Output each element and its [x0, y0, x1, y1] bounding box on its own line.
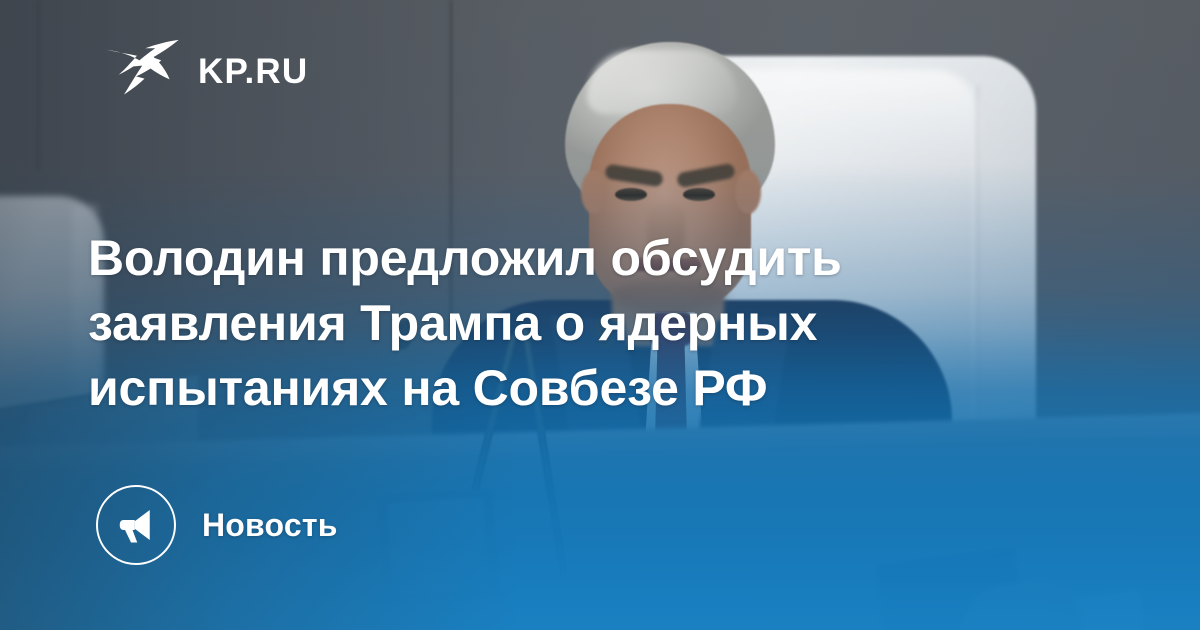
page-title: Володин предложил обсудить заявления Тра…	[88, 226, 988, 421]
brand-logo-text: KP.RU	[198, 54, 308, 89]
subject-eye-left	[615, 188, 647, 201]
brand-logo[interactable]: KP.RU	[104, 33, 308, 109]
status-badge-label: Новость	[202, 507, 338, 544]
status-badge[interactable]: Новость	[96, 485, 338, 565]
swallow-bird-icon	[104, 33, 182, 109]
subject-ear-right	[735, 170, 761, 214]
wall-seam-left	[36, 0, 40, 170]
desk-monitor-screen	[387, 497, 489, 595]
news-share-card: KP.RU Володин предложил обсудить заявлен…	[0, 0, 1200, 630]
megaphone-icon	[96, 485, 176, 565]
subject-eye-right	[683, 188, 715, 201]
subject-ear-left	[581, 170, 607, 214]
